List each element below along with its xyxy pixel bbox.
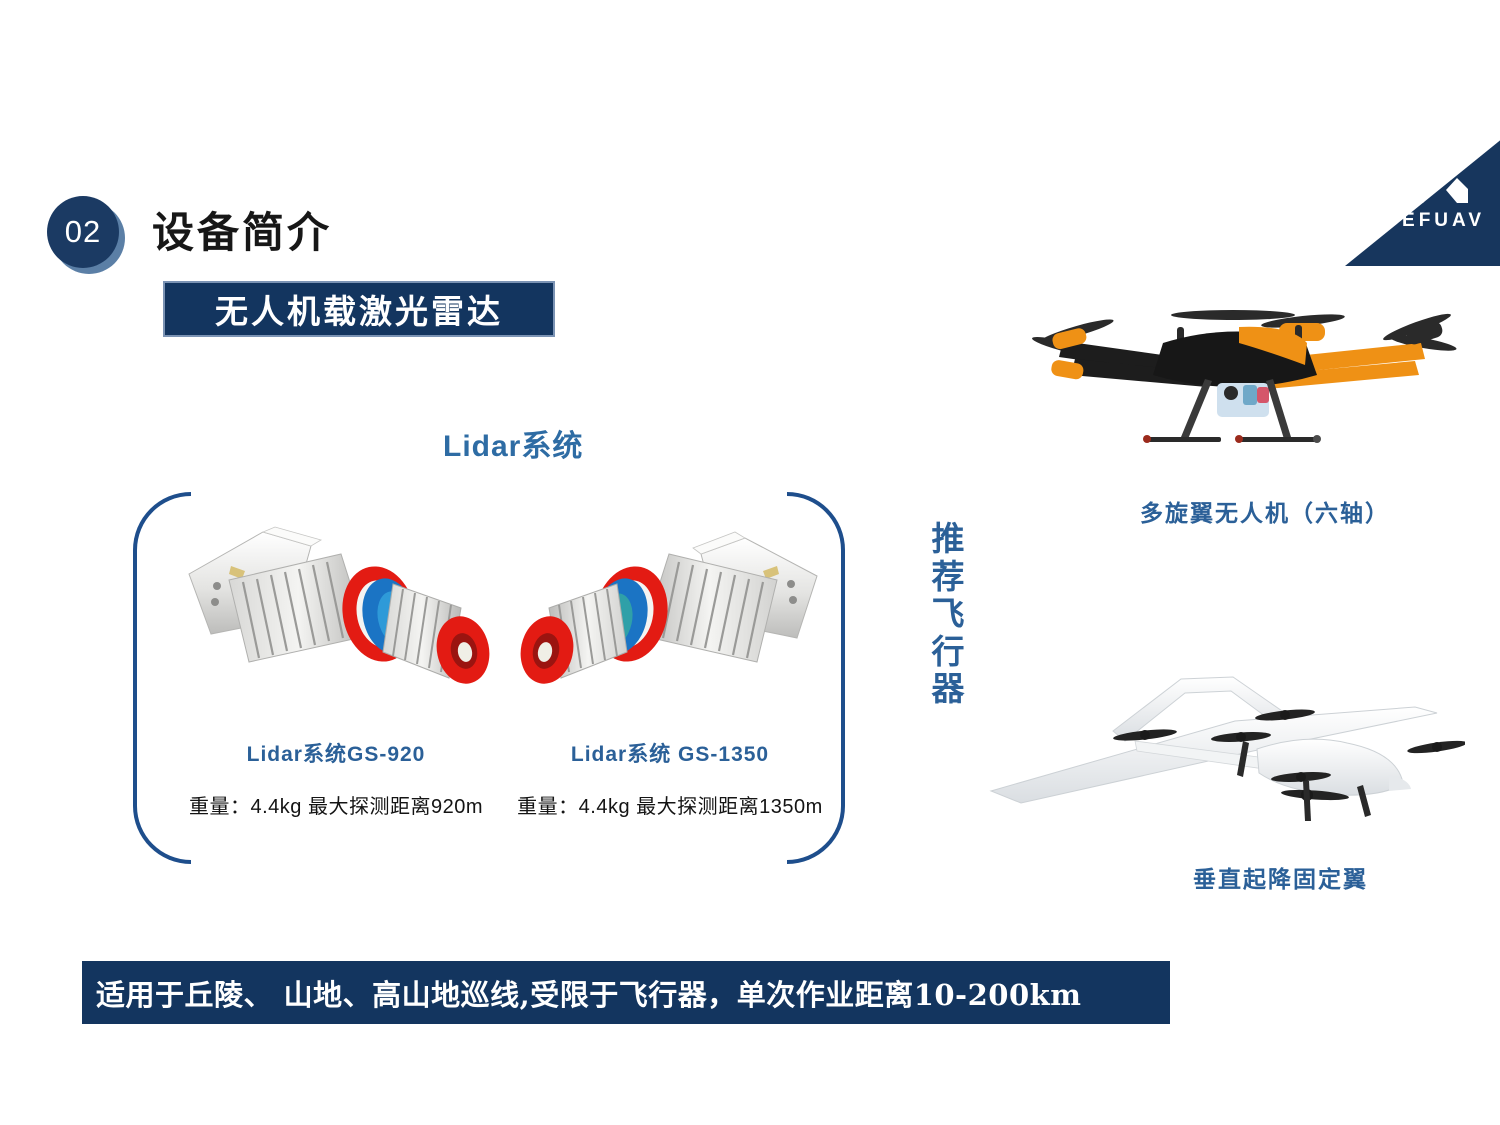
footer-banner: 适用于丘陵、 山地、高山地巡线,受限于飞行器，单次作业距离10-200km — [82, 961, 1170, 1024]
page-title: 设备简介 — [152, 199, 332, 260]
multirotor-caption: 多旋翼无人机（六轴） — [1140, 494, 1390, 528]
lidar-scanner-icon — [171, 510, 501, 706]
multirotor-drone-icon — [1005, 295, 1465, 475]
lidar-name: Lidar系统 GS-1350 — [505, 738, 835, 768]
lidar-name: Lidar系统GS-920 — [171, 738, 501, 768]
recommend-char-1: 推 — [925, 520, 971, 558]
recommend-char-2: 荐 — [925, 558, 971, 596]
vtol-caption: 垂直起降固定翼 — [1193, 860, 1368, 894]
lidar-item-gs1350: Lidar系统 GS-1350 重量：4.4kg 最大探测距离1350m — [505, 510, 835, 850]
logo-text: EFUAV — [1402, 210, 1485, 232]
subtitle-banner: 无人机载激光雷达 — [163, 281, 555, 337]
recommend-char-3: 飞 — [925, 595, 971, 633]
footer-banner-text: 适用于丘陵、 山地、高山地巡线,受限于飞行器，单次作业距离10-200km — [96, 972, 1081, 1014]
subtitle-banner-label: 无人机载激光雷达 — [215, 285, 503, 333]
mountain-chevron-icon — [1403, 158, 1477, 210]
lidar-item-gs920: Lidar系统GS-920 重量：4.4kg 最大探测距离920m — [171, 510, 501, 850]
recommend-char-4: 行 — [925, 633, 971, 671]
vtol-fixed-wing-icon — [985, 655, 1465, 845]
recommended-aircraft-label: 推 荐 飞 行 器 — [925, 520, 971, 708]
company-logo: EFUAV — [1345, 138, 1500, 266]
lidar-group: Lidar系统GS-920 重量：4.4kg 最大探测距离920m — [133, 492, 845, 864]
lidar-spec: 重量：4.4kg 最大探测距离1350m — [505, 790, 835, 819]
section-number-badge: 02 — [47, 196, 125, 274]
badge-disc: 02 — [47, 196, 119, 268]
lidar-section-heading: Lidar系统 — [443, 421, 583, 465]
recommend-char-5: 器 — [925, 670, 971, 708]
lidar-scanner-icon — [505, 510, 835, 706]
lidar-spec: 重量：4.4kg 最大探测距离920m — [171, 790, 501, 819]
section-number: 02 — [65, 214, 101, 250]
